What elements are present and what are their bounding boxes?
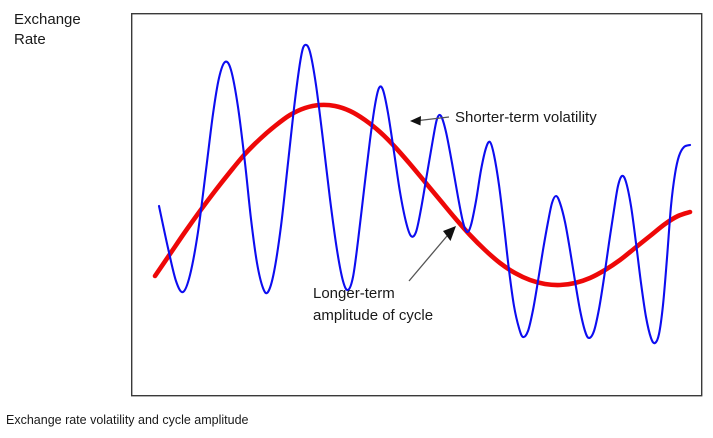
y-axis-label-line1: Exchange	[14, 11, 81, 28]
annotation-label-longer-term-line2: amplitude of cycle	[313, 307, 433, 324]
annotation-label-longer-term-line1: Longer-term	[313, 285, 395, 302]
y-axis-label-line2: Rate	[14, 31, 46, 48]
annotation-label-shorter-term: Shorter-term volatility	[455, 109, 597, 126]
exchange-rate-figure: Exchange Rate Shorter-term volatility Lo…	[0, 0, 713, 438]
plot-frame	[132, 14, 702, 396]
figure-caption: Exchange rate volatility and cycle ampli…	[6, 413, 249, 427]
